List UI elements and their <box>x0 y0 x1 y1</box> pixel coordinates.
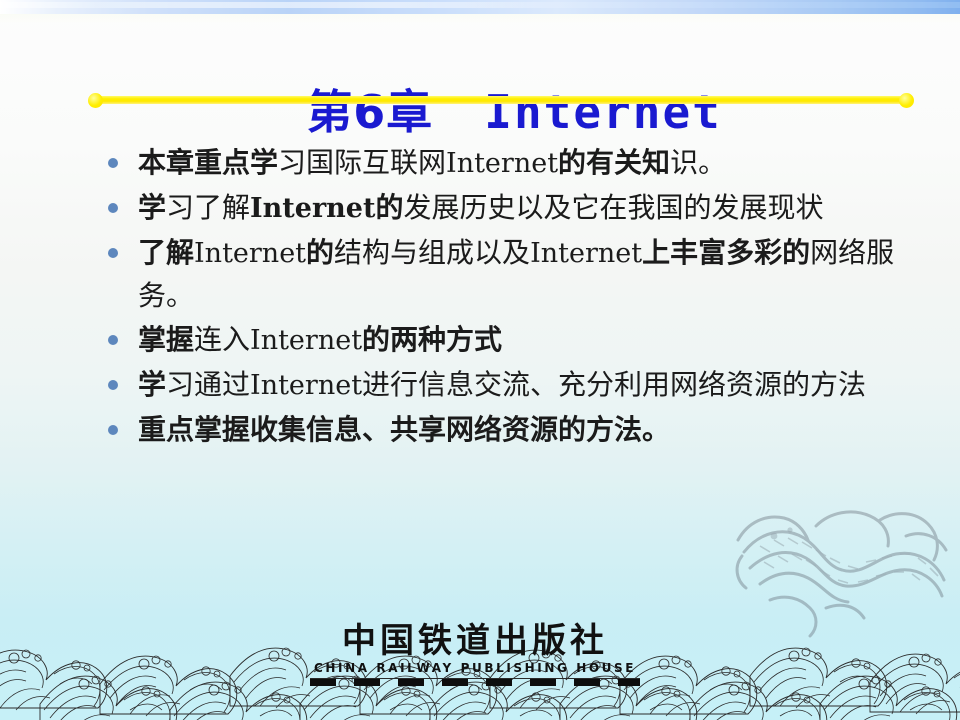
slide: 第6章 Internet 本章重点学习国际互联网Internet的有关知识。学习… <box>0 0 960 720</box>
list-item: 本章重点学习国际互联网Internet的有关知识。 <box>108 142 928 185</box>
bullet-list: 本章重点学习国际互联网Internet的有关知识。学习了解Internet的发展… <box>108 142 928 453</box>
list-item-label: 了解Internet的结构与组成以及Internet上丰富多彩的网络服务。 <box>138 232 928 317</box>
divider-bar <box>94 96 908 104</box>
list-item: 重点掌握收集信息、共享网络资源的方法。 <box>108 409 928 451</box>
logo-dashed-rule <box>310 678 640 686</box>
bullet-dot-icon <box>108 335 118 345</box>
list-item: 学习通过Internet进行信息交流、充分利用网络资源的方法 <box>108 364 928 407</box>
bullet-dot-icon <box>108 380 118 390</box>
list-item: 了解Internet的结构与组成以及Internet上丰富多彩的网络服务。 <box>108 232 928 317</box>
divider-dot-left-icon <box>88 93 103 108</box>
title-divider <box>88 93 914 107</box>
top-banner-bar <box>0 0 960 14</box>
divider-dot-right-icon <box>899 93 914 108</box>
bullet-dot-icon <box>108 248 118 258</box>
bullet-dot-icon <box>108 158 118 168</box>
list-item: 学习了解Internet的发展历史以及它在我国的发展现状 <box>108 187 928 230</box>
list-item-label: 重点掌握收集信息、共享网络资源的方法。 <box>138 409 928 451</box>
list-item-label: 本章重点学习国际互联网Internet的有关知识。 <box>138 142 928 185</box>
list-item-label: 掌握连入Internet的两种方式 <box>138 319 928 362</box>
bullet-dot-icon <box>108 203 118 213</box>
dragon-watermark-icon <box>730 496 960 676</box>
bullet-dot-icon <box>108 425 118 435</box>
top-banner-highlight <box>0 2 960 8</box>
publisher-name-en: CHINA RAILWAY PUBLISHING HOUSE <box>310 661 640 675</box>
list-item-label: 学习通过Internet进行信息交流、充分利用网络资源的方法 <box>138 364 928 407</box>
top-banner-fade <box>0 14 960 24</box>
list-item: 掌握连入Internet的两种方式 <box>108 319 928 362</box>
publisher-logo: 中国铁道出版社 CHINA RAILWAY PUBLISHING HOUSE <box>310 622 640 686</box>
publisher-name-cn: 中国铁道出版社 <box>310 622 640 660</box>
list-item-label: 学习了解Internet的发展历史以及它在我国的发展现状 <box>138 187 928 230</box>
